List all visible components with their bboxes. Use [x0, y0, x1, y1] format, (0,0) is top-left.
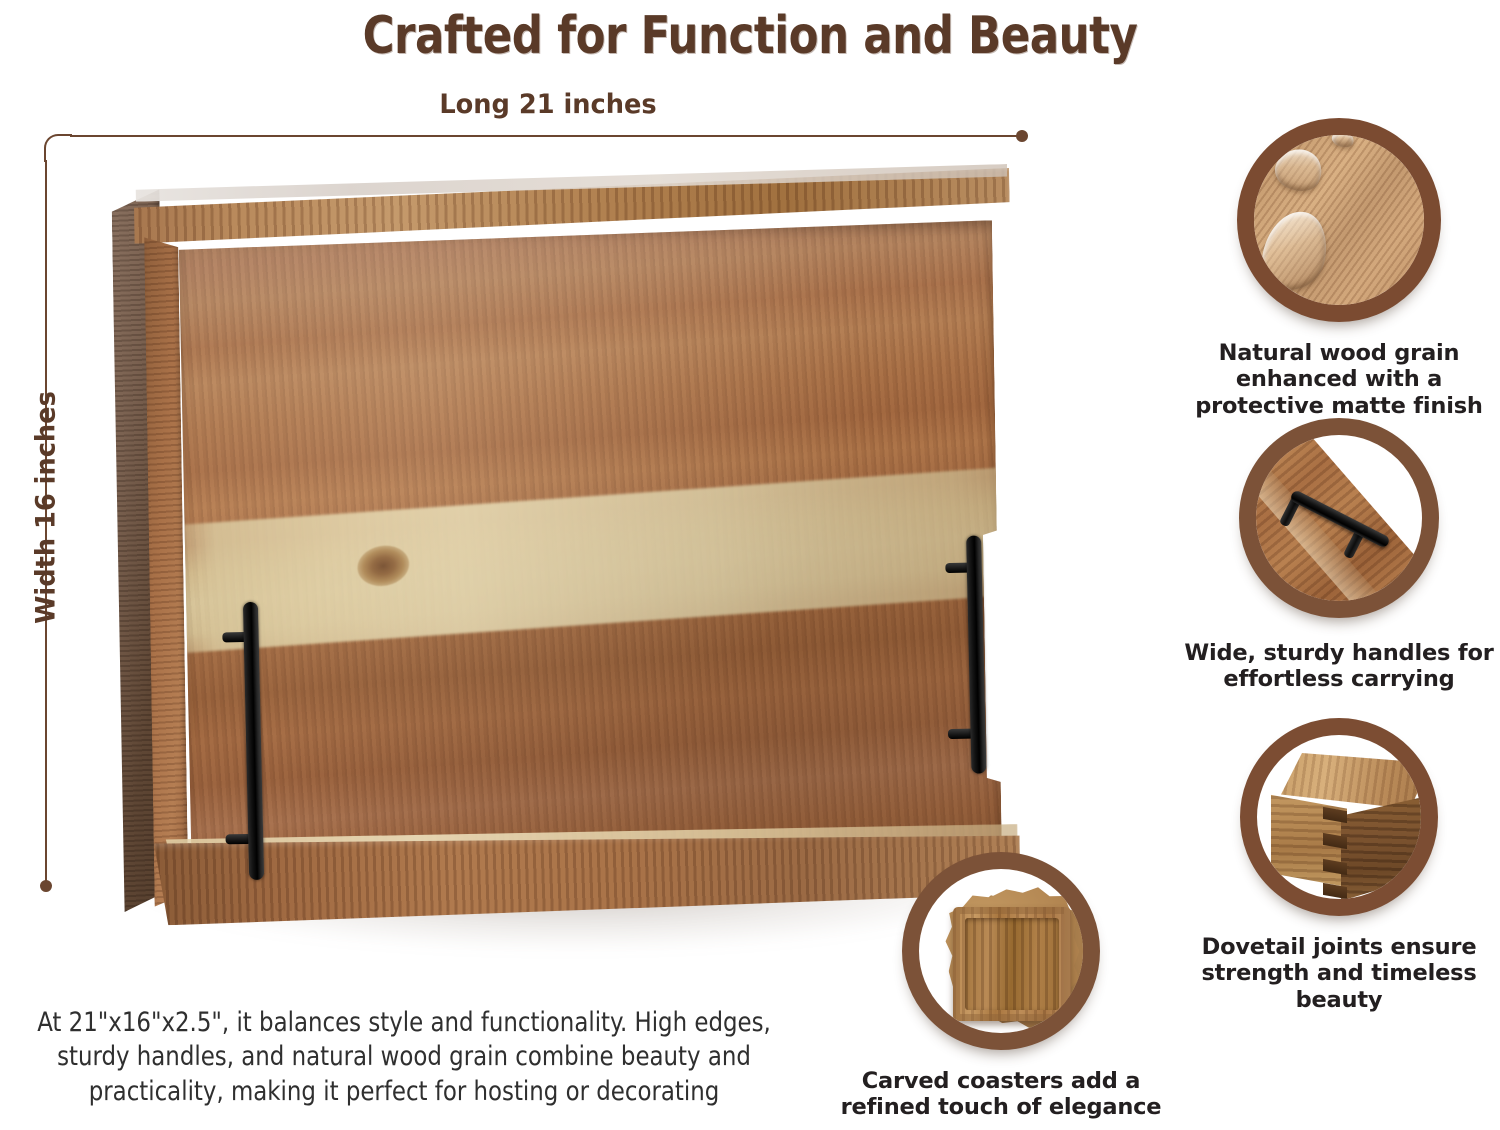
callout-dovetail-joints: Dovetail joints ensure strength and time… [1178, 718, 1500, 1013]
summary-paragraph: At 21"x16"x2.5", it balances style and f… [33, 1006, 774, 1109]
wood-grain-droplets-icon [1237, 118, 1441, 322]
tray-handle-notch-right [983, 518, 1041, 795]
callout-caption: Natural wood grain enhanced with a prote… [1178, 340, 1500, 419]
guide-horizontal-line [70, 135, 1022, 138]
infographic-canvas: Crafted for Function and Beauty Long 21 … [0, 0, 1500, 1130]
coaster-stack [933, 885, 1100, 1035]
page-title: Crafted for Function and Beauty [53, 6, 1448, 66]
guide-endpoint-dot-bottom [40, 880, 52, 892]
tray-body [99, 158, 1031, 932]
callout-caption: Wide, sturdy handles for effortless carr… [1178, 640, 1500, 693]
coaster-inset-groove [965, 918, 1059, 1010]
callout-carved-coasters: Carved coasters add a refined touch of e… [828, 852, 1174, 1121]
callout-caption: Dovetail joints ensure strength and time… [1178, 934, 1500, 1013]
product-photo-serving-tray [95, 150, 1045, 940]
coaster-top [953, 907, 1071, 1021]
dimension-width-label: Width 16 inches [31, 365, 62, 650]
dovetail-block [1267, 753, 1437, 903]
callout-natural-wood-grain: Natural wood grain enhanced with a prote… [1178, 118, 1500, 419]
tray-inner-floor [172, 220, 1002, 905]
wood-grain-sheen [172, 220, 1002, 905]
carved-coasters-icon [902, 852, 1100, 1050]
guide-endpoint-dot-right [1016, 130, 1028, 142]
callout-sturdy-handles: Wide, sturdy handles for effortless carr… [1178, 418, 1500, 693]
dimension-length-label: Long 21 inches [330, 89, 767, 120]
dovetail-side-face [1341, 797, 1423, 901]
callout-caption: Carved coasters add a refined touch of e… [828, 1068, 1174, 1121]
guide-corner [44, 134, 72, 162]
handle-closeup-icon [1239, 418, 1439, 618]
dovetail-joint-icon [1240, 718, 1438, 916]
